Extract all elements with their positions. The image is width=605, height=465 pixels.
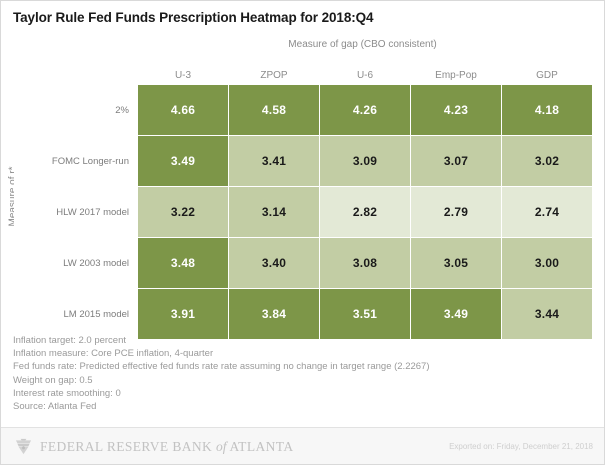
heatmap-cell: 3.41 xyxy=(229,136,319,186)
table-corner xyxy=(14,62,137,84)
heatmap-cell: 3.91 xyxy=(138,289,228,339)
heatmap-cell: 4.26 xyxy=(320,85,410,135)
wordmark-part1: FEDERAL RESERVE BANK xyxy=(40,439,212,454)
wordmark-italic-of: of xyxy=(216,439,227,454)
heatmap-cell: 3.49 xyxy=(411,289,501,339)
page-title: Taylor Rule Fed Funds Prescription Heatm… xyxy=(13,10,373,25)
heatmap-cell: 2.74 xyxy=(502,187,592,237)
heatmap-cell: 3.05 xyxy=(411,238,501,288)
column-header-gdp: GDP xyxy=(502,62,592,84)
heatmap-cell: 3.84 xyxy=(229,289,319,339)
heatmap-header-row: U-3 ZPOP U-6 Emp-Pop GDP xyxy=(14,62,592,84)
wordmark-part2: ATLANTA xyxy=(230,439,294,454)
heatmap-cell: 4.66 xyxy=(138,85,228,135)
federal-reserve-eagle-icon xyxy=(14,437,33,456)
heatmap-body: 2% 4.66 4.58 4.26 4.23 4.18 FOMC Longer-… xyxy=(14,85,592,339)
heatmap-cell: 4.18 xyxy=(502,85,592,135)
heatmap-cell: 3.22 xyxy=(138,187,228,237)
footer-bar: FEDERAL RESERVE BANK of ATLANTA Exported… xyxy=(1,428,605,465)
heatmap-cell: 3.07 xyxy=(411,136,501,186)
column-header-u6: U-6 xyxy=(320,62,410,84)
footnote-source: Source: Atlanta Fed xyxy=(13,400,430,413)
export-timestamp: Exported on: Friday, December 21, 2018 xyxy=(449,442,593,451)
heatmap-cell: 3.00 xyxy=(502,238,592,288)
footer-wordmark: FEDERAL RESERVE BANK of ATLANTA xyxy=(40,439,293,455)
column-header-zpop: ZPOP xyxy=(229,62,319,84)
heatmap-cell: 3.48 xyxy=(138,238,228,288)
row-header-lw-2003-model: LW 2003 model xyxy=(14,238,137,288)
table-row: HLW 2017 model 3.22 3.14 2.82 2.79 2.74 xyxy=(14,187,592,237)
column-group-label: Measure of gap (CBO consistent) xyxy=(136,39,589,50)
heatmap-cell: 2.82 xyxy=(320,187,410,237)
heatmap-grid: U-3 ZPOP U-6 Emp-Pop GDP 2% 4.66 4.58 4.… xyxy=(13,61,589,329)
footnote-weight-on-gap: Weight on gap: 0.5 xyxy=(13,374,430,387)
table-row: 2% 4.66 4.58 4.26 4.23 4.18 xyxy=(14,85,592,135)
heatmap-cell: 3.08 xyxy=(320,238,410,288)
heatmap-cell: 3.14 xyxy=(229,187,319,237)
footnotes: Inflation target: 2.0 percent Inflation … xyxy=(13,334,430,413)
row-header-fomc-longer-run: FOMC Longer-run xyxy=(14,136,137,186)
heatmap-cell: 3.51 xyxy=(320,289,410,339)
heatmap-cell: 2.79 xyxy=(411,187,501,237)
brand-lockup: FEDERAL RESERVE BANK of ATLANTA xyxy=(14,437,293,456)
table-row: LM 2015 model 3.91 3.84 3.51 3.49 3.44 xyxy=(14,289,592,339)
table-row: LW 2003 model 3.48 3.40 3.08 3.05 3.00 xyxy=(14,238,592,288)
heatmap-cell: 4.58 xyxy=(229,85,319,135)
footnote-rate-smoothing: Interest rate smoothing: 0 xyxy=(13,387,430,400)
footnote-fed-funds-rate: Fed funds rate: Predicted effective fed … xyxy=(13,360,430,373)
table-row: FOMC Longer-run 3.49 3.41 3.09 3.07 3.02 xyxy=(14,136,592,186)
heatmap-cell: 3.44 xyxy=(502,289,592,339)
heatmap-cell: 3.02 xyxy=(502,136,592,186)
column-header-u3: U-3 xyxy=(138,62,228,84)
heatmap-page: Taylor Rule Fed Funds Prescription Heatm… xyxy=(0,0,605,465)
heatmap-cell: 4.23 xyxy=(411,85,501,135)
heatmap-table: U-3 ZPOP U-6 Emp-Pop GDP 2% 4.66 4.58 4.… xyxy=(13,61,593,340)
footnote-inflation-measure: Inflation measure: Core PCE inflation, 4… xyxy=(13,347,430,360)
row-header-2pct: 2% xyxy=(14,85,137,135)
row-header-hlw-2017-model: HLW 2017 model xyxy=(14,187,137,237)
column-header-emp-pop: Emp-Pop xyxy=(411,62,501,84)
heatmap-cell: 3.49 xyxy=(138,136,228,186)
row-header-lm-2015-model: LM 2015 model xyxy=(14,289,137,339)
heatmap-cell: 3.09 xyxy=(320,136,410,186)
footnote-inflation-target: Inflation target: 2.0 percent xyxy=(13,334,430,347)
heatmap-cell: 3.40 xyxy=(229,238,319,288)
